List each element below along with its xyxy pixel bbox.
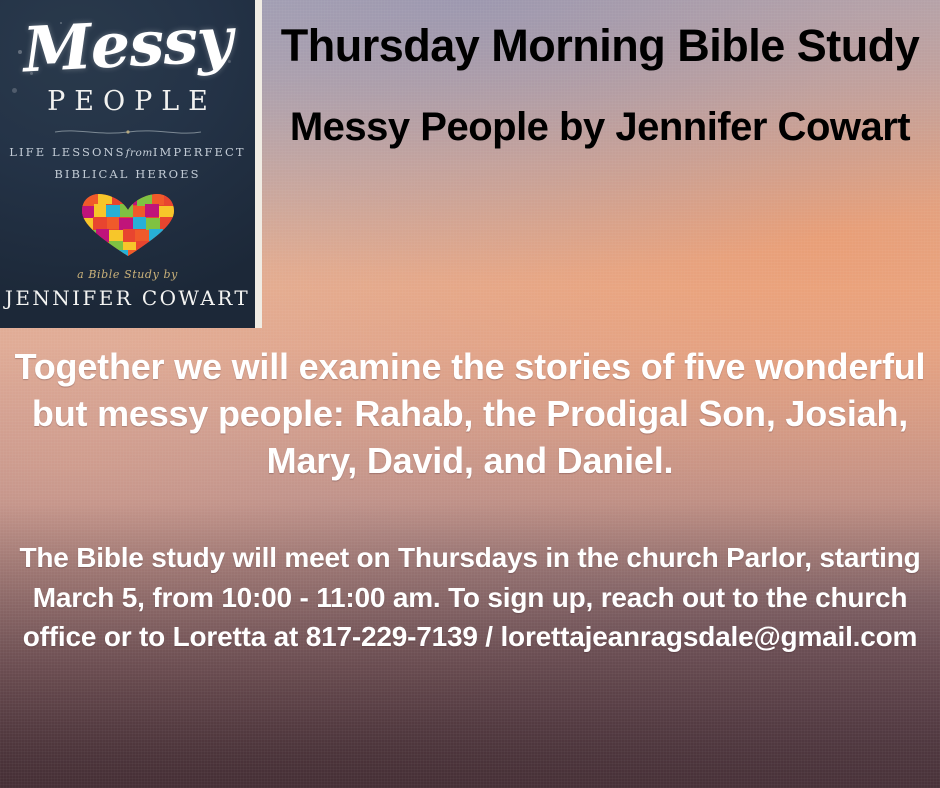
- study-logistics: The Bible study will meet on Thursdays i…: [14, 538, 926, 656]
- study-description: Together we will examine the stories of …: [14, 344, 926, 484]
- flyer-headline: Thursday Morning Bible Study: [268, 22, 932, 70]
- book-title-people: PEOPLE: [0, 86, 255, 117]
- book-subtitle-line-2: BIBLICAL HEROES: [0, 167, 255, 181]
- ornamental-divider-icon: [53, 128, 203, 136]
- book-cover-artwork: Messy PEOPLE LIFE LESSONSfromIMPERFECT B…: [0, 0, 255, 328]
- book-title-script: Messy: [0, 7, 255, 82]
- mosaic-heart-icon: [80, 192, 176, 258]
- book-subtitle-part-a: LIFE LESSONS: [9, 145, 125, 159]
- book-subtitle-from: from: [126, 147, 153, 159]
- book-author-name: JENNIFER COWART: [0, 286, 255, 310]
- body-block: Together we will examine the stories of …: [14, 344, 926, 656]
- flyer-subheadline: Messy People by Jennifer Cowart: [268, 106, 932, 149]
- bible-study-flyer: Messy PEOPLE LIFE LESSONSfromIMPERFECT B…: [0, 0, 940, 788]
- book-subtitle-line-1: LIFE LESSONSfromIMPERFECT: [0, 145, 255, 159]
- heading-block: Thursday Morning Bible Study Messy Peopl…: [268, 22, 932, 149]
- book-subtitle-part-b: IMPERFECT: [153, 145, 246, 159]
- book-cover-image: Messy PEOPLE LIFE LESSONSfromIMPERFECT B…: [0, 0, 262, 328]
- book-byline: a Bible Study by: [0, 268, 255, 281]
